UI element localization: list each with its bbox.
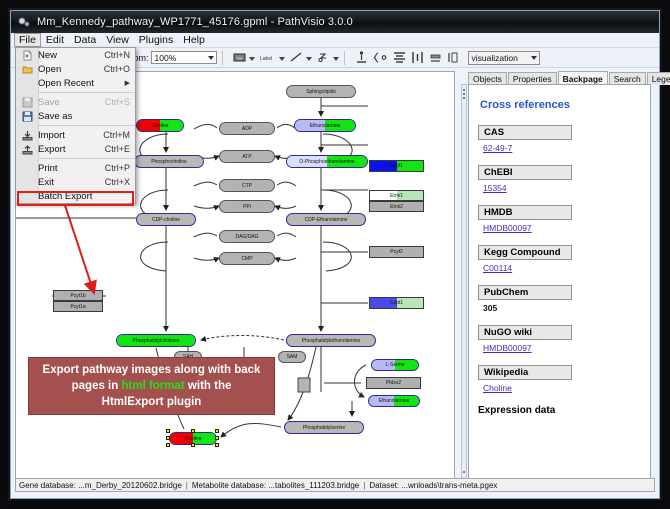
datanode-button[interactable]: Gn: [233, 50, 255, 66]
xref-db-kegg-compound: Kegg Compound: [478, 245, 572, 260]
node-label: CDP-choline: [152, 217, 180, 223]
file-menu-shortcut: Ctrl+X: [105, 177, 130, 187]
file-menu-label: Open Recent: [38, 78, 125, 89]
file-menu-shortcut: Ctrl+P: [105, 163, 130, 173]
pathway-node-l-serine[interactable]: L-Serine: [371, 359, 419, 371]
file-menu-item-new[interactable]: NewCtrl+N: [16, 48, 135, 62]
node-label: Ethanolamine: [379, 398, 410, 404]
common-height-button[interactable]: [447, 50, 460, 66]
file-menu-item-save-as[interactable]: Save as: [16, 109, 135, 123]
file-menu-shortcut: Ctrl+M: [103, 130, 130, 140]
screenshot-root: Mm_Kennedy_pathway_WP1771_45176.gpml - P…: [0, 0, 670, 509]
annotation-callout: Export pathway images along with back pa…: [28, 357, 275, 415]
callout-line-2a: pages in: [72, 380, 122, 392]
chevron-down-icon: [249, 57, 255, 61]
selection-handle[interactable]: [215, 429, 219, 433]
file-menu-label: Exit: [38, 177, 105, 188]
side-panel: Objects Properties Backpage Search Legen…: [459, 71, 657, 482]
cross-reference-list: CAS62-49-7ChEBI15354HMDBHMDB00097Kegg Co…: [478, 125, 641, 393]
file-menu-item-save: SaveCtrl+S: [16, 95, 135, 109]
node-label: Phosphatidylcholines: [133, 338, 180, 344]
chevron-down-icon: [333, 57, 339, 61]
file-menu-popup[interactable]: NewCtrl+NOpenCtrl+OOpen Recent▶SaveCtrl+…: [15, 47, 136, 204]
node-label: Sphingolipids: [306, 89, 336, 95]
node-label: DAG/DAG: [235, 234, 258, 240]
node-label: Etnk2: [390, 204, 403, 210]
selection-handle[interactable]: [191, 429, 195, 433]
chevron-down-icon: [531, 56, 537, 60]
chevron-down-icon: [208, 56, 214, 60]
xref-db-hmdb: HMDB: [478, 205, 572, 220]
node-label: Ethanolamine: [310, 123, 341, 129]
file-menu-divider: [38, 158, 135, 159]
zoom-combo[interactable]: 100%: [151, 51, 217, 64]
node-label: PPi: [243, 204, 251, 210]
visualization-combo[interactable]: visualization: [468, 51, 540, 65]
chevron-down-icon: [279, 57, 285, 61]
svg-text:Gn: Gn: [236, 56, 241, 61]
xref-db-chebi: ChEBI: [478, 165, 572, 180]
chevron-down-icon: [306, 57, 312, 61]
line-button[interactable]: [290, 50, 312, 66]
file-menu-item-export[interactable]: ExportCtrl+E: [16, 142, 135, 156]
callout-line-1: Export pathway images along with back: [43, 362, 261, 378]
file-menu-item-print[interactable]: PrintCtrl+P: [16, 161, 135, 175]
node-label: CMP: [241, 256, 252, 262]
pathway-node-phosphatidylcholines[interactable]: Phosphatidylcholines: [116, 334, 196, 347]
file-menu-item-exit[interactable]: ExitCtrl+X: [16, 175, 135, 189]
align-left-button[interactable]: [373, 50, 388, 66]
node-label: Phosphatidylserine: [303, 425, 345, 431]
new-file-icon: [16, 48, 38, 62]
node-label: ADP: [242, 126, 252, 132]
selection-handle[interactable]: [166, 429, 170, 433]
pathway-node-pcyt1a[interactable]: Pcyt1a: [53, 301, 103, 312]
pathway-node-sphingolipids[interactable]: Sphingolipids: [286, 85, 356, 98]
file-menu-shortcut: Ctrl+E: [105, 144, 130, 154]
node-label: Pcyt1b: [70, 293, 85, 299]
file-menu-shortcut: Ctrl+S: [105, 97, 130, 107]
node-label: Ptdss2: [386, 380, 401, 386]
menu-file[interactable]: File: [14, 33, 41, 47]
panel-rail[interactable]: [461, 84, 467, 480]
xref-value-kegg-compound[interactable]: C00114: [483, 263, 641, 273]
pathway-node-ophosphoethanolamine[interactable]: O-Phosphoethanolamine: [286, 155, 368, 168]
file-menu-label: Save: [38, 97, 105, 108]
file-menu-label: Export: [38, 144, 105, 155]
save-as-icon: [16, 109, 38, 123]
no-icon: [16, 76, 38, 90]
node-label: SAM: [287, 354, 298, 360]
pathway-node-ethanolamine-top[interactable]: Ethanolamine: [294, 119, 356, 132]
pathvisio-icon: [17, 15, 31, 29]
import-icon: [16, 128, 38, 142]
callout-line-2: pages in html format with the: [72, 378, 232, 394]
toolbar-separator: [222, 51, 223, 65]
node-label: O-Phosphoethanolamine: [299, 159, 354, 165]
menu-bar: File Edit Data View Plugins Help: [11, 33, 659, 48]
xref-value-hmdb[interactable]: HMDB00097: [483, 223, 641, 233]
node-label: Phosphocholine: [151, 159, 187, 165]
no-icon: [16, 161, 38, 175]
menu-data[interactable]: Data: [69, 33, 101, 47]
menu-help[interactable]: Help: [178, 33, 210, 47]
pathway-node-etnk1[interactable]: Etnk1: [369, 190, 424, 201]
anchor-button[interactable]: [317, 50, 339, 66]
panel-tabstrip: Objects Properties Backpage Search Legen…: [468, 71, 670, 85]
node-label: CTP: [242, 183, 252, 189]
zoom-value: 100%: [155, 53, 177, 63]
status-dataset: Dataset: ...wnloads\trans-meta.pgex: [369, 481, 497, 490]
svg-text:Label: Label: [260, 56, 272, 62]
selection-handle[interactable]: [215, 443, 219, 447]
pathvisio-window: Mm_Kennedy_pathway_WP1771_45176.gpml - P…: [10, 10, 660, 499]
callout-line-3: HtmlExport plugin: [102, 394, 202, 410]
callout-line-3-text: HtmlExport plugin: [102, 396, 202, 408]
node-label: CDP-Ethanolamine: [305, 217, 348, 223]
xref-db-pubchem: PubChem: [478, 285, 572, 300]
status-gene-database: Gene database: ...m_Derby_20120602.bridg…: [19, 481, 182, 490]
file-menu-shortcut: Ctrl+O: [104, 64, 130, 74]
pathway-node-choline-top[interactable]: Choline: [136, 119, 184, 132]
pathway-node-cdp-ethanolamine[interactable]: CDP-Ethanolamine: [286, 213, 366, 226]
file-menu-label: Open: [38, 64, 104, 75]
node-label: Choline: [185, 436, 202, 442]
xref-db-cas: CAS: [478, 125, 572, 140]
node-label: Choline: [152, 123, 169, 129]
file-menu-label: Import: [38, 130, 103, 141]
status-bar: Gene database: ...m_Derby_20120602.bridg…: [15, 478, 655, 492]
selection-handle[interactable]: [215, 436, 219, 440]
selection-handle[interactable]: [191, 443, 195, 447]
callout-line-1-text: Export pathway images along with back: [43, 364, 261, 376]
callout-highlight: html format: [121, 380, 184, 392]
no-icon: [16, 175, 38, 189]
file-menu-label: Save as: [38, 111, 130, 122]
pathway-node-atp[interactable]: ATP: [219, 150, 275, 163]
expression-data-heading: Expression data: [478, 405, 641, 416]
label-button[interactable]: Label: [260, 50, 285, 66]
selection-handle[interactable]: [166, 436, 170, 440]
file-menu-item-open-recent[interactable]: Open Recent▶: [16, 76, 135, 90]
pathway-node-dag-dag[interactable]: DAG/DAG: [219, 230, 275, 243]
pathway-node-adp[interactable]: ADP: [219, 122, 275, 135]
title-bar[interactable]: Mm_Kennedy_pathway_WP1771_45176.gpml - P…: [11, 11, 659, 33]
callout-line-2b: with the: [185, 380, 232, 392]
xref-value-nugo-wiki[interactable]: HMDB00097: [483, 343, 641, 353]
xref-value-cas[interactable]: 62-49-7: [483, 143, 641, 153]
node-label: Cept1: [390, 300, 403, 306]
save-icon: [16, 95, 38, 109]
xref-db-wikipedia: Wikipedia: [478, 365, 572, 380]
pathway-node-phosphatidylserine[interactable]: Phosphatidylserine: [284, 421, 364, 434]
pathway-node-etnk2[interactable]: Etnk2: [369, 201, 424, 212]
node-label: L-Serine: [386, 362, 405, 368]
file-menu-divider: [38, 125, 135, 126]
visualization-value: visualization: [472, 53, 518, 63]
node-label: Pcyt1a: [70, 304, 85, 310]
pathway-node-ctp[interactable]: CTP: [219, 179, 275, 192]
xref-db-nugo-wiki: NuGO wiki: [478, 325, 572, 340]
xref-value-chebi[interactable]: 15354: [483, 183, 641, 193]
file-menu-label: New: [38, 50, 104, 61]
file-menu-label: Print: [38, 163, 105, 174]
pathway-node-pcyt1b[interactable]: Pcyt1b: [53, 290, 103, 301]
distribute-button[interactable]: [411, 50, 424, 66]
pathway-node-phosphatidylethanolamine[interactable]: Phosphatidylethanolamine: [286, 334, 376, 347]
status-separator-2: |: [363, 481, 365, 490]
status-metabolite-database: Metabolite database: ...tabolites_111203…: [192, 481, 359, 490]
xref-value-wikipedia[interactable]: Choline: [483, 383, 641, 393]
node-label: Phosphatidylethanolamine: [302, 338, 361, 344]
file-menu-shortcut: Ctrl+N: [104, 50, 130, 60]
node-label: Etnk1: [390, 193, 403, 199]
node-label: ATP: [242, 154, 251, 160]
node-label: Pcyt2: [390, 249, 403, 255]
pathway-node-ptdss2[interactable]: Ptdss2: [366, 377, 421, 389]
selection-handle[interactable]: [166, 443, 170, 447]
pathway-node-ppi[interactable]: PPi: [219, 200, 275, 213]
open-folder-icon: [16, 62, 38, 76]
node-label: Sgpl1: [390, 163, 403, 169]
xref-value-pubchem: 305: [483, 303, 641, 313]
pathway-node-sam[interactable]: SAM: [278, 351, 306, 363]
file-menu-item-import[interactable]: ImportCtrl+M: [16, 128, 135, 142]
pathway-node-phosphocholine[interactable]: Phosphocholine: [134, 155, 204, 168]
file-menu-divider: [38, 92, 135, 93]
pathway-node-cmp[interactable]: CMP: [219, 252, 275, 265]
stack-button[interactable]: [393, 50, 406, 66]
batch-export-highlight: [17, 191, 134, 206]
pathway-node-sgpl1[interactable]: Sgpl1: [369, 160, 424, 172]
chevron-right-icon: ▶: [125, 79, 130, 87]
pathway-node-cdp-choline[interactable]: CDP-choline: [136, 213, 196, 226]
toolbar-separator-2: [344, 51, 345, 65]
export-icon: [16, 142, 38, 156]
backpage-content: Cross references CAS62-49-7ChEBI15354HMD…: [468, 84, 651, 480]
cross-references-heading: Cross references: [480, 99, 641, 111]
tab-backpage[interactable]: Backpage: [558, 71, 608, 85]
menu-edit[interactable]: Edit: [41, 33, 69, 47]
pathway-node-pcyt2[interactable]: Pcyt2: [369, 246, 424, 258]
pathway-node-cept1[interactable]: Cept1: [369, 297, 424, 309]
common-width-button[interactable]: [429, 50, 442, 66]
menu-view[interactable]: View: [101, 33, 134, 47]
status-separator-1: |: [186, 481, 188, 490]
file-menu-item-open[interactable]: OpenCtrl+O: [16, 62, 135, 76]
pathway-node-ethanolamine-bottom[interactable]: Ethanolamine: [368, 395, 420, 407]
window-title: Mm_Kennedy_pathway_WP1771_45176.gpml - P…: [37, 16, 353, 28]
align-top-button[interactable]: [355, 50, 368, 66]
menu-plugins[interactable]: Plugins: [134, 33, 178, 47]
